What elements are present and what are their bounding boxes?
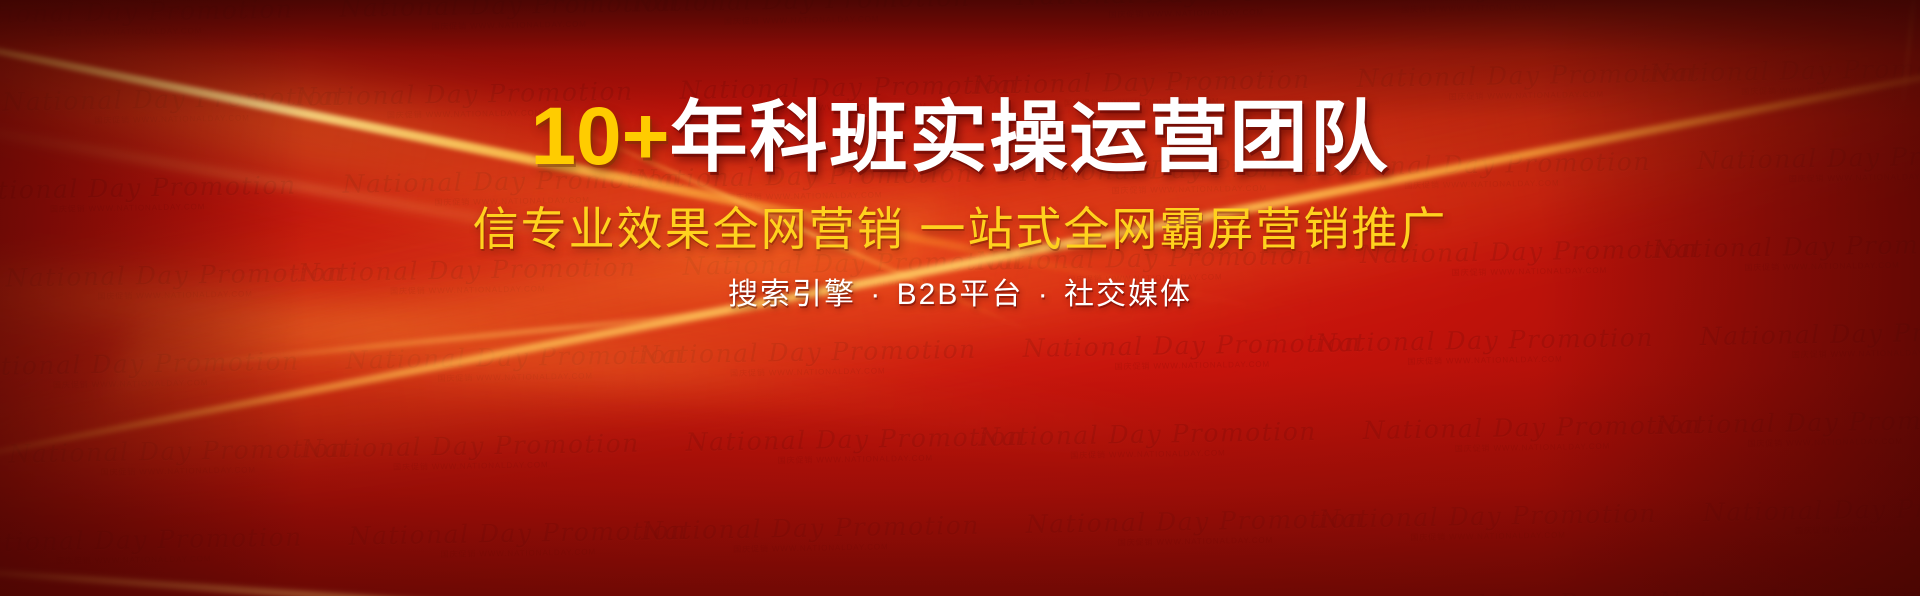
headline-text: 年科班实操运营团队 <box>670 93 1390 181</box>
promo-banner: National Day Promotion国庆促销 WWW.NATIONALD… <box>0 0 1920 596</box>
tagline-item-b2b-platform: B2B平台 <box>897 278 1024 311</box>
tagline-item-social-media: 社交媒体 <box>1064 278 1192 311</box>
banner-headline: 10+年科班实操运营团队 <box>530 96 1389 178</box>
banner-tagline: 搜索引擎 · B2B平台 · 社交媒体 <box>728 280 1192 310</box>
banner-content: 10+年科班实操运营团队 信专业效果全网营销 一站式全网霸屏营销推广 搜索引擎 … <box>0 0 1920 596</box>
tagline-separator-2: · <box>1034 278 1054 311</box>
headline-number: 10+ <box>530 91 669 182</box>
tagline-separator-1: · <box>866 278 886 311</box>
banner-subheadline: 信专业效果全网营销 一站式全网霸屏营销推广 <box>473 206 1448 252</box>
tagline-item-search-engine: 搜索引擎 <box>728 278 856 311</box>
